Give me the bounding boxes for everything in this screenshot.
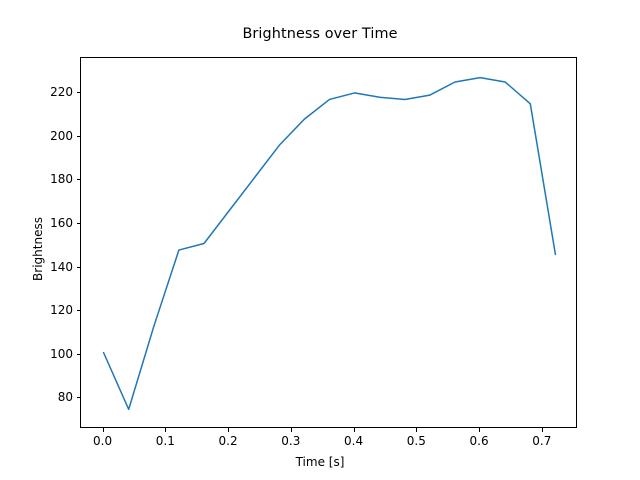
y-tick-label: 180 <box>20 172 73 186</box>
x-axis-label: Time [s] <box>0 455 640 469</box>
data-line-svg <box>81 58 578 429</box>
x-tick-label: 0.0 <box>93 434 112 448</box>
y-tick-label: 80 <box>20 390 73 404</box>
plot-area <box>80 57 577 428</box>
brightness-line <box>104 78 556 410</box>
y-tick-label: 100 <box>20 347 73 361</box>
y-tick-label: 160 <box>20 216 73 230</box>
matplotlib-figure: Brightness over Time Brightness Time [s]… <box>0 0 640 480</box>
chart-title: Brightness over Time <box>0 26 640 42</box>
x-tick-label: 0.1 <box>156 434 175 448</box>
x-tick-label: 0.4 <box>344 434 363 448</box>
x-tick-label: 0.2 <box>219 434 238 448</box>
y-tick-label: 120 <box>20 303 73 317</box>
y-tick-label: 220 <box>20 85 73 99</box>
y-tick-label: 140 <box>20 260 73 274</box>
y-tick-label: 200 <box>20 129 73 143</box>
x-tick-label: 0.7 <box>532 434 551 448</box>
x-tick-label: 0.5 <box>407 434 426 448</box>
x-tick-label: 0.6 <box>470 434 489 448</box>
x-tick-label: 0.3 <box>281 434 300 448</box>
